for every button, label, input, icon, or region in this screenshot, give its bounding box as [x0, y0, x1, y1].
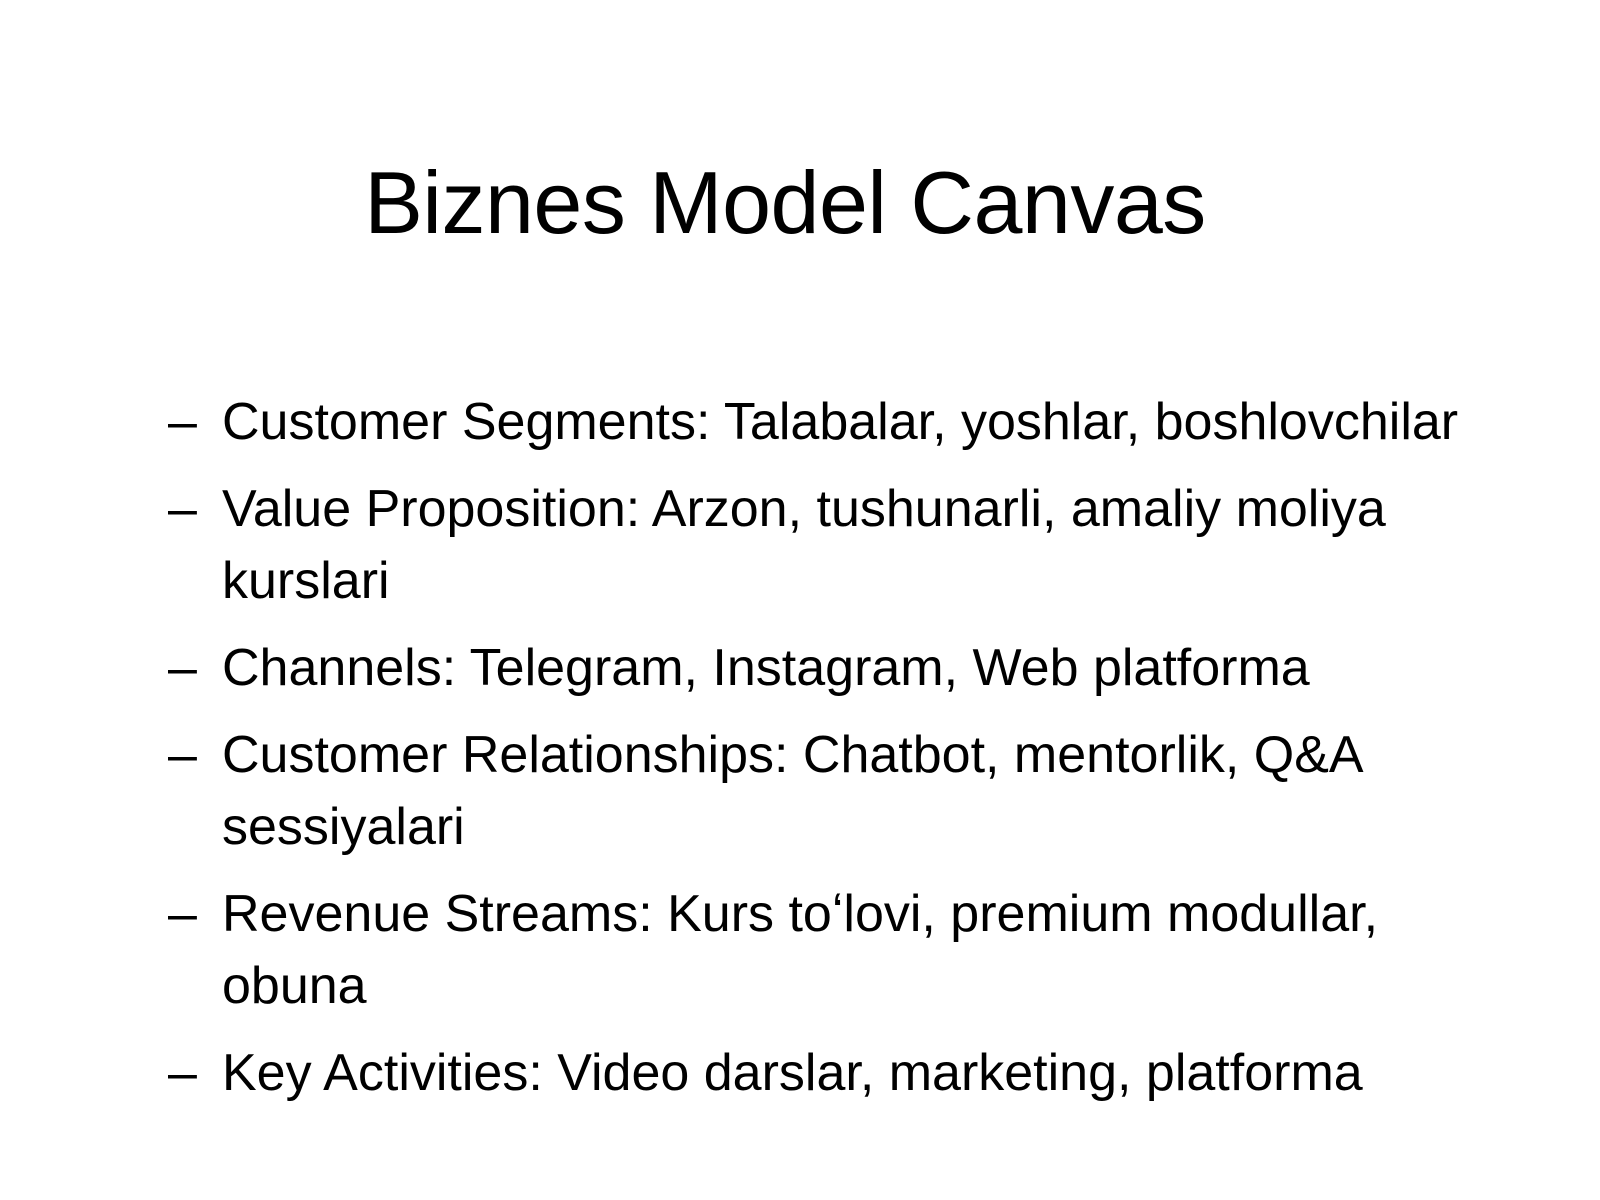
- list-item-label: Customer Relationships: Chatbot, mentorl…: [222, 719, 1488, 863]
- list-item: – Channels: Telegram, Instagram, Web pla…: [168, 632, 1488, 704]
- list-item: – Customer Relationships: Chatbot, mento…: [168, 719, 1488, 863]
- dash-bullet-icon: –: [168, 719, 222, 791]
- list-item: – Key Activities: Video darslar, marketi…: [168, 1037, 1488, 1109]
- list-item-label: Value Proposition: Arzon, tushunarli, am…: [222, 473, 1488, 617]
- dash-bullet-icon: –: [168, 386, 222, 458]
- list-item-label: Customer Segments: Talabalar, yoshlar, b…: [222, 386, 1488, 458]
- dash-bullet-icon: –: [168, 878, 222, 950]
- list-item: – Revenue Streams: Kurs toʻlovi, premium…: [168, 878, 1488, 1022]
- dash-bullet-icon: –: [168, 1037, 222, 1109]
- dash-bullet-icon: –: [168, 632, 222, 704]
- dash-bullet-icon: –: [168, 473, 222, 545]
- list-item-label: Channels: Telegram, Instagram, Web platf…: [222, 632, 1488, 704]
- presentation-slide: Biznes Model Canvas – Customer Segments:…: [0, 0, 1600, 1200]
- list-item: – Customer Segments: Talabalar, yoshlar,…: [168, 386, 1488, 458]
- bullet-list: – Customer Segments: Talabalar, yoshlar,…: [168, 386, 1488, 1124]
- list-item-label: Key Activities: Video darslar, marketing…: [222, 1037, 1488, 1109]
- list-item: – Value Proposition: Arzon, tushunarli, …: [168, 473, 1488, 617]
- page-title: Biznes Model Canvas: [0, 155, 1570, 250]
- list-item-label: Revenue Streams: Kurs toʻlovi, premium m…: [222, 878, 1488, 1022]
